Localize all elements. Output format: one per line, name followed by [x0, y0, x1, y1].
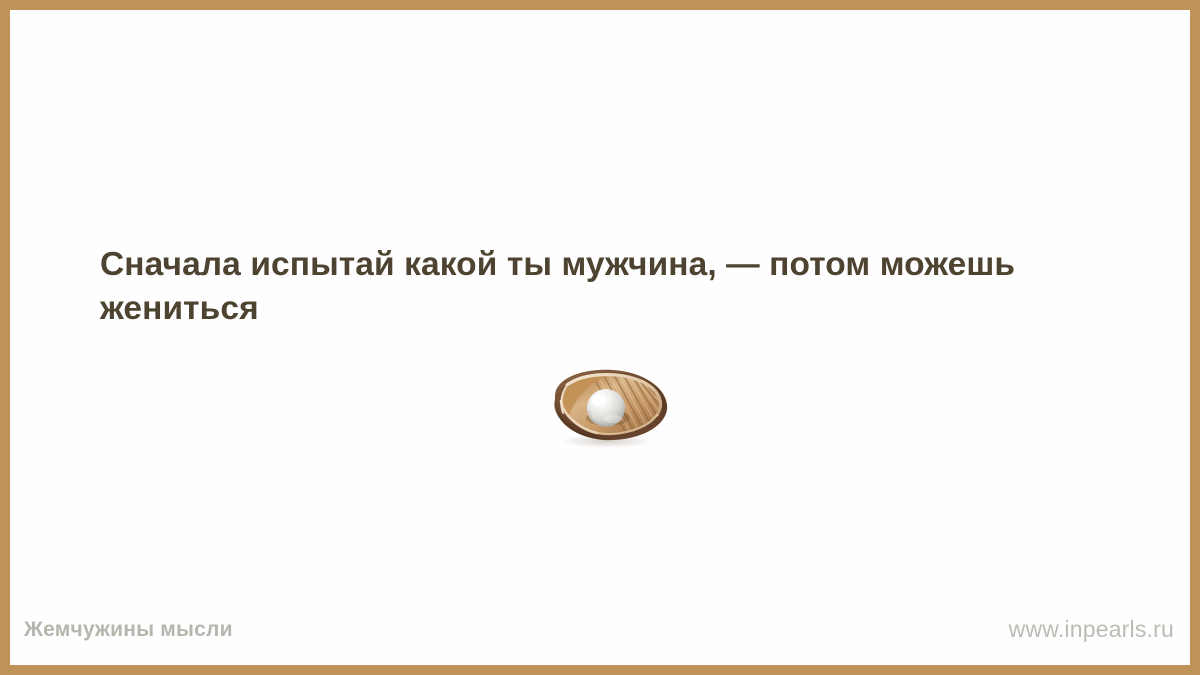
footer: Жемчужины мысли www.inpearls.ru — [10, 599, 1190, 665]
oyster-shell-with-pearl-icon — [541, 363, 673, 449]
quote-text: Сначала испытай какой ты мужчина, — пото… — [100, 243, 1110, 331]
footer-site-url[interactable]: www.inpearls.ru — [1009, 618, 1174, 647]
footer-brand: Жемчужины мысли — [24, 619, 233, 646]
quote-card: Сначала испытай какой ты мужчина, — пото… — [0, 0, 1200, 675]
card-canvas: Сначала испытай какой ты мужчина, — пото… — [10, 10, 1190, 665]
